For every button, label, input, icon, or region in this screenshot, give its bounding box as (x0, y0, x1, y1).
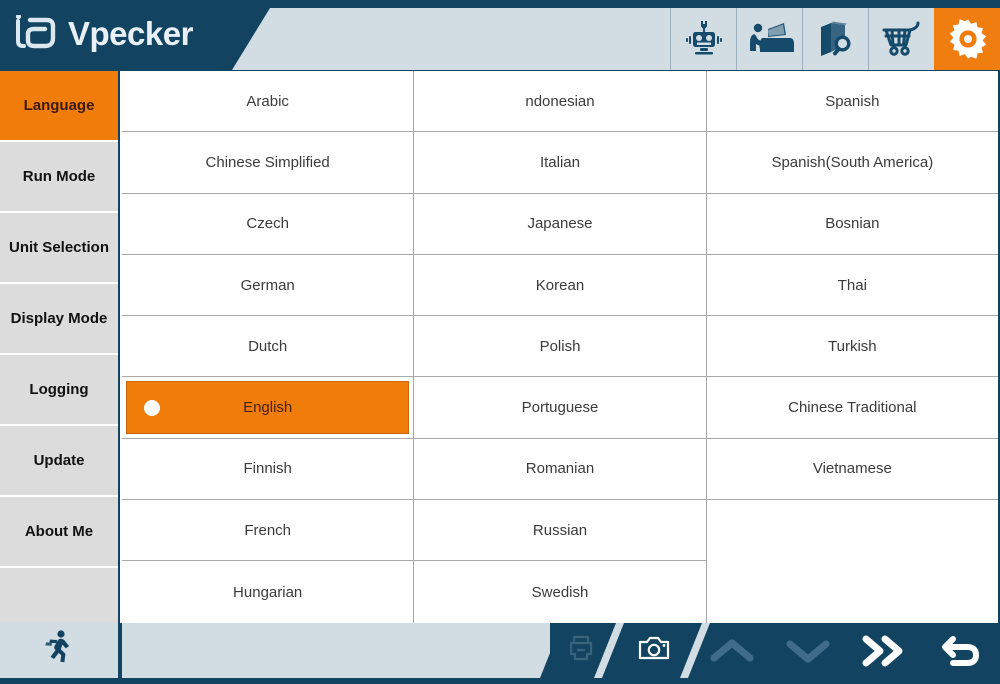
manual-lookup-icon (815, 19, 857, 59)
language-column-1: Arabic Chinese Simplified Czech German D… (122, 71, 414, 623)
language-cell-spanish[interactable]: Spanish (707, 71, 998, 132)
diagnostic-robot-icon (682, 19, 726, 59)
language-cell-swedish[interactable]: Swedish (414, 561, 705, 622)
language-column-2: ndonesian Italian Japanese Korean Polish… (414, 71, 706, 623)
language-label: Korean (536, 277, 584, 294)
chevron-down-icon (784, 636, 832, 671)
language-label: Dutch (248, 338, 287, 355)
brand-name: Vpecker (68, 15, 193, 53)
language-cell-german[interactable]: German (122, 255, 413, 316)
language-label: Portuguese (522, 399, 599, 416)
sidebar-item-label: About Me (25, 523, 93, 540)
run-button[interactable] (0, 623, 120, 678)
language-cell-indonesian[interactable]: ndonesian (414, 71, 705, 132)
language-label: English (243, 399, 292, 416)
capture-buttons (540, 623, 680, 678)
language-cell-portuguese[interactable]: Portuguese (414, 377, 705, 438)
language-cell-french[interactable]: French (122, 500, 413, 561)
language-cell-japanese[interactable]: Japanese (414, 194, 705, 255)
language-cell-korean[interactable]: Korean (414, 255, 705, 316)
sidebar-item-empty (0, 568, 118, 630)
sidebar-item-label: Language (24, 97, 95, 114)
chevron-up-icon (708, 636, 756, 671)
sidebar-item-language[interactable]: Language (0, 71, 118, 142)
diagnostic-robot-icon-button[interactable] (670, 8, 736, 70)
sidebar-item-label: Run Mode (23, 168, 96, 185)
language-label: Chinese Traditional (788, 399, 916, 416)
sidebar-item-label: Unit Selection (9, 239, 109, 256)
language-cell-dutch[interactable]: Dutch (122, 316, 413, 377)
language-label: German (241, 277, 295, 294)
brand: Vpecker (14, 10, 193, 58)
gear-icon-button[interactable] (934, 8, 1000, 70)
double-chevron-right-icon (859, 634, 909, 673)
language-label: Polish (540, 338, 581, 355)
language-cell-spanish-south-america[interactable]: Spanish(South America) (707, 132, 998, 193)
language-label: Bosnian (825, 215, 879, 232)
camera-icon (638, 634, 670, 667)
screenshot-button[interactable] (616, 623, 688, 678)
printer-icon (566, 633, 596, 668)
language-column-3: Spanish Spanish(South America) Bosnian T… (707, 71, 998, 623)
language-label: Italian (540, 154, 580, 171)
shopping-cart-icon (880, 20, 924, 58)
language-label: Japanese (527, 215, 592, 232)
language-label: Chinese Simplified (206, 154, 330, 171)
sidebar-item-label: Logging (29, 381, 88, 398)
header-icon-bar (670, 8, 1000, 70)
shopping-cart-icon-button[interactable] (868, 8, 934, 70)
sidebar-item-logging[interactable]: Logging (0, 355, 118, 426)
language-cell-polish[interactable]: Polish (414, 316, 705, 377)
language-grid: Arabic Chinese Simplified Czech German D… (122, 71, 1000, 623)
toolbar-blank-area (122, 623, 550, 678)
language-label: Czech (246, 215, 289, 232)
sidebar-item-unit-selection[interactable]: Unit Selection (0, 213, 118, 284)
language-label: Arabic (246, 93, 289, 110)
settings-sidebar: Language Run Mode Unit Selection Display… (0, 71, 120, 623)
language-cell-finnish[interactable]: Finnish (122, 439, 413, 500)
language-cell-italian[interactable]: Italian (414, 132, 705, 193)
language-label: Hungarian (233, 584, 302, 601)
sidebar-item-update[interactable]: Update (0, 426, 118, 497)
language-label: Spanish (825, 93, 879, 110)
scroll-up-button[interactable] (706, 628, 758, 680)
vpecker-logo-icon (14, 15, 58, 53)
language-label: French (244, 522, 291, 539)
language-label: Romanian (526, 460, 594, 477)
language-cell-arabic[interactable]: Arabic (122, 71, 413, 132)
car-repair-icon-button[interactable] (736, 8, 802, 70)
manual-lookup-icon-button[interactable] (802, 8, 868, 70)
language-label: Thai (838, 277, 867, 294)
language-cell-thai[interactable]: Thai (707, 255, 998, 316)
language-cell-czech[interactable]: Czech (122, 194, 413, 255)
sidebar-item-display-mode[interactable]: Display Mode (0, 284, 118, 355)
bottom-toolbar (0, 623, 1000, 684)
app-header: Vpecker (0, 0, 1000, 71)
language-cell-vietnamese[interactable]: Vietnamese (707, 439, 998, 500)
language-cell-romanian[interactable]: Romanian (414, 439, 705, 500)
language-label: Turkish (828, 338, 877, 355)
back-button[interactable] (934, 628, 986, 680)
running-person-icon (42, 629, 76, 672)
language-cell-hungarian[interactable]: Hungarian (122, 561, 413, 622)
language-label: Finnish (243, 460, 291, 477)
back-arrow-icon (937, 633, 983, 674)
radio-selected-icon (144, 400, 160, 416)
gear-icon (947, 18, 989, 60)
sidebar-item-label: Update (34, 452, 85, 469)
scroll-down-button[interactable] (782, 628, 834, 680)
vpecker-settings-screen: Vpecker (0, 0, 1000, 684)
language-cell-turkish[interactable]: Turkish (707, 316, 998, 377)
language-label: ndonesian (525, 93, 594, 110)
sidebar-item-label: Display Mode (11, 310, 108, 327)
language-cell-russian[interactable]: Russian (414, 500, 705, 561)
language-cell-chinese-simplified[interactable]: Chinese Simplified (122, 132, 413, 193)
language-cell-bosnian[interactable]: Bosnian (707, 194, 998, 255)
navigation-buttons (706, 623, 986, 684)
next-page-button[interactable] (858, 628, 910, 680)
sidebar-item-run-mode[interactable]: Run Mode (0, 142, 118, 213)
language-label: Spanish(South America) (771, 154, 933, 171)
language-label: Swedish (532, 584, 589, 601)
language-label: Vietnamese (813, 460, 892, 477)
car-repair-icon (746, 19, 794, 59)
language-label: Russian (533, 522, 587, 539)
header-accent-panel (232, 8, 680, 70)
language-cell-empty (707, 500, 998, 623)
language-cell-chinese-traditional[interactable]: Chinese Traditional (707, 377, 998, 438)
sidebar-item-about-me[interactable]: About Me (0, 497, 118, 568)
language-cell-english[interactable]: English (122, 377, 413, 438)
